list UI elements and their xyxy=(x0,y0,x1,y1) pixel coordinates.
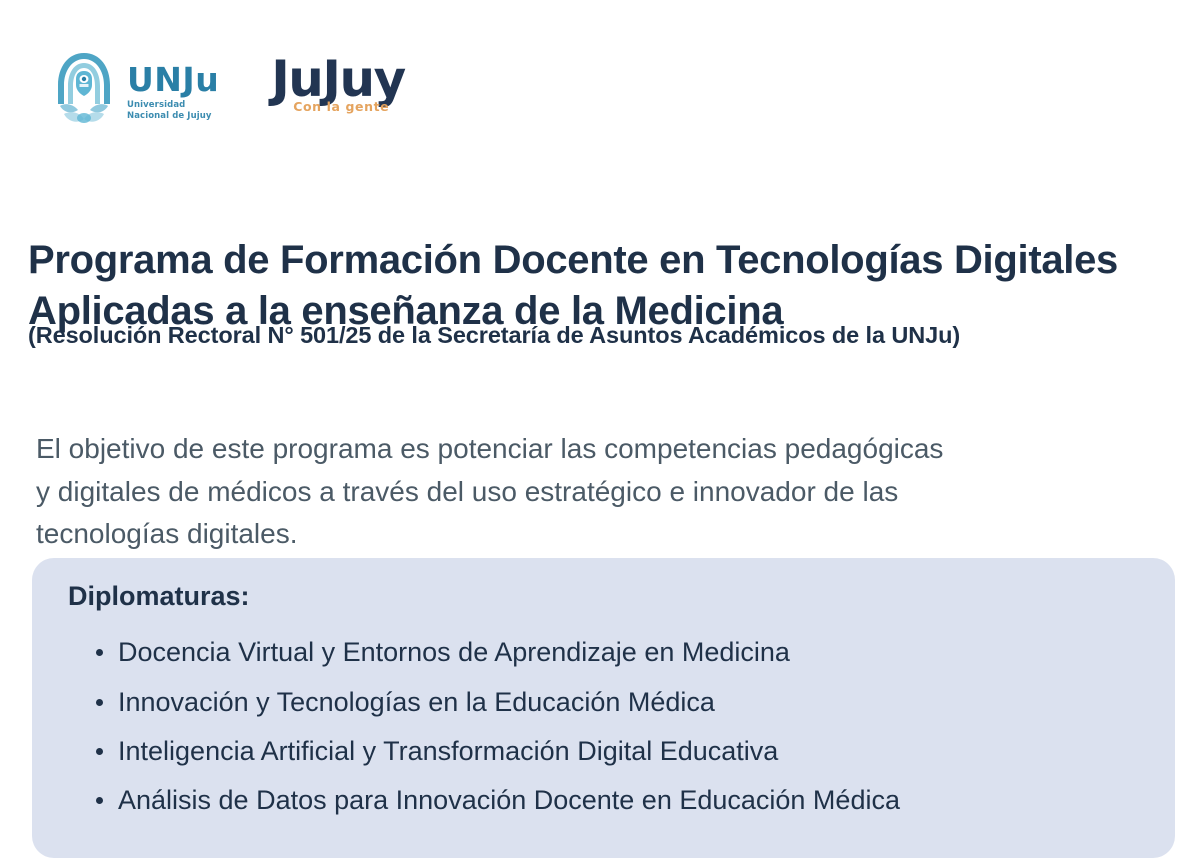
diplomaturas-heading: Diplomaturas: xyxy=(68,580,1145,612)
unju-seal-icon xyxy=(50,48,118,132)
diplomaturas-card: Diplomaturas: Docencia Virtual y Entorno… xyxy=(32,558,1175,858)
unju-logo: UNJu Universidad Nacional de Jujuy xyxy=(50,48,219,132)
unju-subtitle-line1: Universidad xyxy=(127,100,185,110)
logo-bar: UNJu Universidad Nacional de Jujuy JuJuy… xyxy=(50,44,411,136)
list-item: Innovación y Tecnologías en la Educación… xyxy=(68,678,1145,727)
intro-line1: El objetivo de este programa es potencia… xyxy=(36,428,1171,471)
intro-line2: y digitales de médicos a través del uso … xyxy=(36,471,1171,514)
list-item: Inteligencia Artificial y Transformación… xyxy=(68,727,1145,776)
poster-page: UNJu Universidad Nacional de Jujuy JuJuy… xyxy=(0,0,1200,840)
unju-title: UNJu xyxy=(127,63,219,96)
jujuy-logo: JuJuy Con la gente xyxy=(271,54,411,126)
resolution-subtitle: (Resolución Rectoral N° 501/25 de la Sec… xyxy=(28,320,1188,351)
page-title-line1: Programa de Formación Docente en Tecnolo… xyxy=(28,235,1178,286)
unju-subtitle-line2: Nacional de Jujuy xyxy=(127,111,212,121)
list-item: Docencia Virtual y Entornos de Aprendiza… xyxy=(68,628,1145,677)
jujuy-tagline: Con la gente xyxy=(293,99,389,114)
unju-subtitle: Universidad Nacional de Jujuy xyxy=(127,100,219,120)
intro-line3: tecnologías digitales. xyxy=(36,513,1171,556)
intro-paragraph: El objetivo de este programa es potencia… xyxy=(36,428,1171,556)
diplomaturas-list: Docencia Virtual y Entornos de Aprendiza… xyxy=(68,628,1145,825)
list-item: Análisis de Datos para Innovación Docent… xyxy=(68,776,1145,825)
unju-wordmark: UNJu Universidad Nacional de Jujuy xyxy=(127,59,219,120)
